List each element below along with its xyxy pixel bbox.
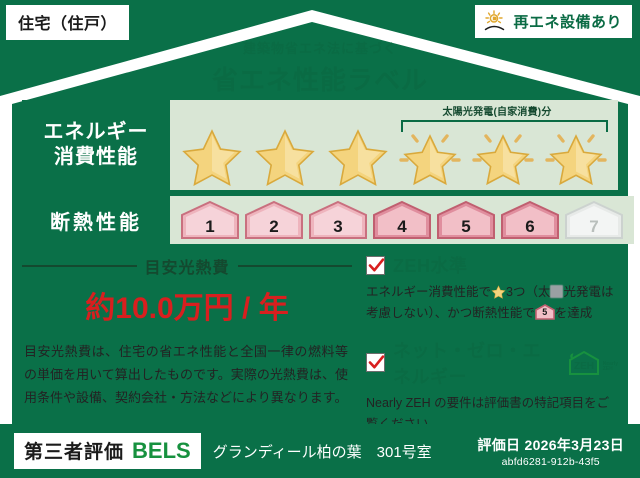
net-zero-checkbox [366, 353, 385, 372]
energy-label-line1: エネルギー [44, 120, 149, 145]
zeh-desc-star-count: 3つ（太 [506, 285, 550, 299]
zeh-standard-description: エネルギー消費性能で3つ（太光発電は考慮しない）、かつ断熱性能で5を達成 [366, 282, 618, 325]
bels-label: BELS [132, 438, 191, 464]
star-rating [170, 124, 618, 186]
evaluation-info: 評価日 2026年3月23日 abfd6281-912b-43f5 [477, 435, 624, 468]
svg-text:ZEH: ZEH [574, 361, 594, 372]
energy-performance-body: 太陽光発電(自家消費)分 [170, 100, 618, 190]
inline-badge-number: 5 [535, 305, 555, 320]
insulation-level-4: 4 [370, 200, 434, 240]
footer-bar: 第三者評価 BELS グランディール柏の葉 301号室 評価日 2026年3月2… [0, 424, 640, 478]
energy-performance-label: エネルギー 消費性能 [22, 100, 170, 190]
insulation-performance-label: 断熱性能 [22, 196, 170, 244]
title-main: 省エネ性能ラベル [0, 60, 640, 97]
third-party-label: 第三者評価 [24, 437, 124, 464]
solar-generation-note: 太陽光発電(自家消費)分 [380, 103, 614, 118]
house-type-chip: 住宅（住戸） [6, 5, 129, 40]
check-icon [368, 257, 385, 274]
property-name: グランディール柏の葉 301号室 [213, 441, 432, 462]
zeh-logo-sub-line2: ZEH [603, 366, 613, 372]
zeh-desc-part3: を達成 [555, 306, 593, 320]
zeh-desc-part1: エネルギー消費性能で [366, 285, 491, 299]
insulation-level-number: 1 [178, 217, 242, 237]
insulation-level-number: 2 [242, 217, 306, 237]
renewable-equipment-chip: 再エネ設備あり [475, 5, 632, 38]
label-title-block: 建築物省エネ法に基づく 省エネ性能ラベル [0, 38, 640, 97]
zeh-standard-block: ZEH水準 エネルギー消費性能で3つ（太光発電は考慮しない）、かつ断熱性能で5を… [366, 252, 618, 325]
energy-label-line2: 消費性能 [54, 145, 138, 170]
inline-star-icon [491, 284, 506, 299]
insulation-level-5: 5 [434, 200, 498, 240]
energy-performance-row: エネルギー 消費性能 太陽光発電(自家消費)分 [22, 100, 618, 190]
star-2 [252, 124, 318, 186]
insulation-scale: 1 2 3 [170, 196, 634, 244]
zeh-section: ZEH水準 エネルギー消費性能で3つ（太光発電は考慮しない）、かつ断熱性能で5を… [352, 252, 618, 420]
insulation-level-6: 6 [498, 200, 562, 240]
insulation-level-7: 7 [562, 200, 626, 240]
insulation-level-number: 7 [562, 217, 626, 237]
title-subtitle: 建築物省エネ法に基づく [0, 38, 640, 57]
evaluation-id: abfd6281-912b-43f5 [477, 456, 624, 468]
lower-section: 目安光熱費 約10.0万円 / 年 目安光熱費は、住宅の省エネ性能と全国一律の燃… [22, 252, 618, 420]
insulation-level-number: 3 [306, 217, 370, 237]
insulation-performance-row: 断熱性能 1 2 [22, 196, 618, 244]
zeh-logo: ZEH Nearly ZEH [567, 350, 618, 376]
utility-cost-heading: 目安光熱費 [22, 254, 352, 278]
star-3 [325, 124, 391, 186]
renewable-chip-label: 再エネ設備あり [513, 11, 622, 32]
heading-rule-left [22, 265, 137, 267]
label-card: エネルギー 消費性能 太陽光発電(自家消費)分 [22, 100, 618, 420]
zeh-standard-checkbox [366, 256, 385, 275]
utility-cost-value: 約10.0万円 / 年 [22, 283, 352, 327]
zeh-house-logo-icon: ZEH [567, 350, 601, 376]
utility-cost-section: 目安光熱費 約10.0万円 / 年 目安光熱費は、住宅の省エネ性能と全国一律の燃… [22, 252, 352, 420]
zeh-standard-title: ZEH水準 [393, 252, 468, 278]
star-5-solar [470, 124, 536, 186]
insulation-level-1: 1 [178, 200, 242, 240]
star-1 [179, 124, 245, 186]
insulation-level-3: 3 [306, 200, 370, 240]
bels-chip: 第三者評価 BELS [14, 433, 201, 469]
insulation-level-number: 5 [434, 217, 498, 237]
utility-cost-heading-text: 目安光熱費 [145, 254, 230, 278]
star-4-solar [397, 124, 463, 186]
redacted-text-block [550, 285, 563, 298]
insulation-level-number: 6 [498, 217, 562, 237]
net-zero-heading: ネット・ゼロ・エネルギー ZEH Nearly ZEH [366, 337, 618, 389]
zeh-standard-heading: ZEH水準 [366, 252, 618, 278]
insulation-level-number: 4 [370, 217, 434, 237]
check-icon [368, 354, 385, 371]
star-6-solar [543, 124, 609, 186]
inline-insulation-badge: 5 [535, 304, 555, 320]
net-zero-title: ネット・ゼロ・エネルギー [393, 337, 555, 389]
evaluation-date: 評価日 2026年3月23日 [477, 435, 624, 455]
heading-rule-right [238, 265, 353, 267]
sun-icon [483, 10, 507, 32]
utility-cost-description: 目安光熱費は、住宅の省エネ性能と全国一律の燃料等の単価を用いて算出したものです。… [22, 341, 352, 409]
zeh-logo-subtext: Nearly ZEH [603, 362, 618, 376]
insulation-level-2: 2 [242, 200, 306, 240]
net-zero-energy-block: ネット・ゼロ・エネルギー ZEH Nearly ZEH [366, 337, 618, 436]
energy-performance-label: 住宅（住戸） 再エネ設備あり 建築物省エネ法に基づく [0, 0, 640, 478]
